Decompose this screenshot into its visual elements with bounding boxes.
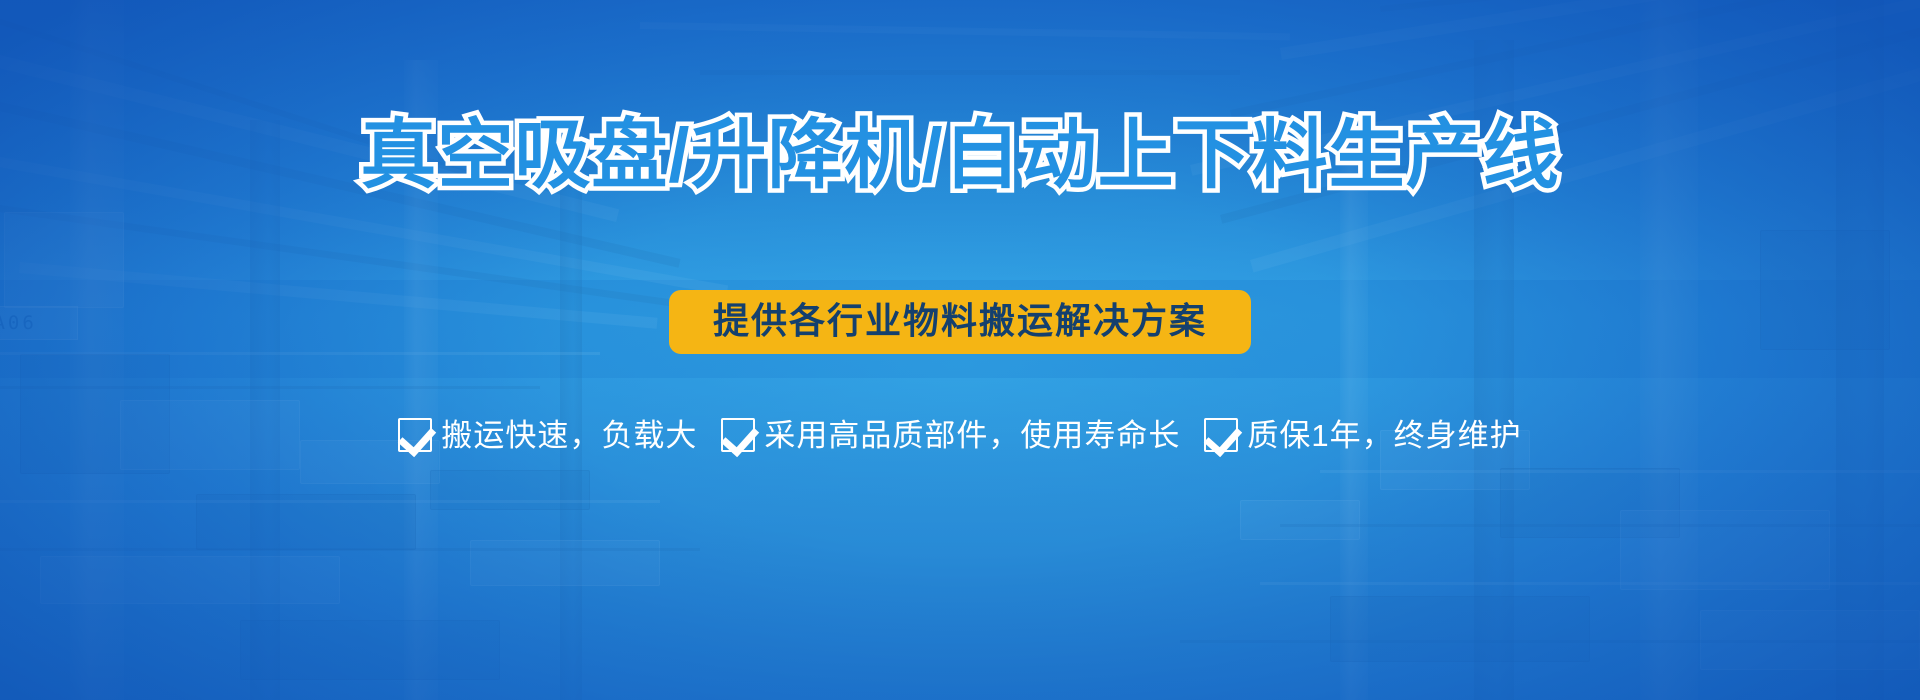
feature-label: 采用高品质部件，使用寿命长: [764, 420, 1180, 451]
feature-label: 质保1年，终身维护: [1247, 420, 1521, 451]
subtitle-pill-wrapper: 提供各行业物料搬运解决方案: [0, 290, 1920, 354]
page-title: 真空吸盘/升降机/自动上下料生产线: [0, 118, 1920, 194]
feature-label: 搬运快速，负载大: [441, 420, 697, 451]
feature-item: 采用高品质部件，使用寿命长: [721, 418, 1180, 452]
feature-item: 质保1年，终身维护: [1204, 418, 1521, 452]
promo-banner: BA06 真空吸盘/升降机/自动上下料生产线 提: [0, 0, 1920, 700]
feature-item: 搬运快速，负载大: [398, 418, 697, 452]
checkmark-icon: [398, 418, 432, 452]
checkmark-icon: [1204, 418, 1238, 452]
checkmark-icon: [721, 418, 755, 452]
feature-list: 搬运快速，负载大 采用高品质部件，使用寿命长 质保1年，终身维护: [0, 418, 1920, 452]
subtitle-pill: 提供各行业物料搬运解决方案: [669, 290, 1251, 354]
banner-content: 真空吸盘/升降机/自动上下料生产线 提供各行业物料搬运解决方案 搬运快速，负载大…: [0, 0, 1920, 700]
